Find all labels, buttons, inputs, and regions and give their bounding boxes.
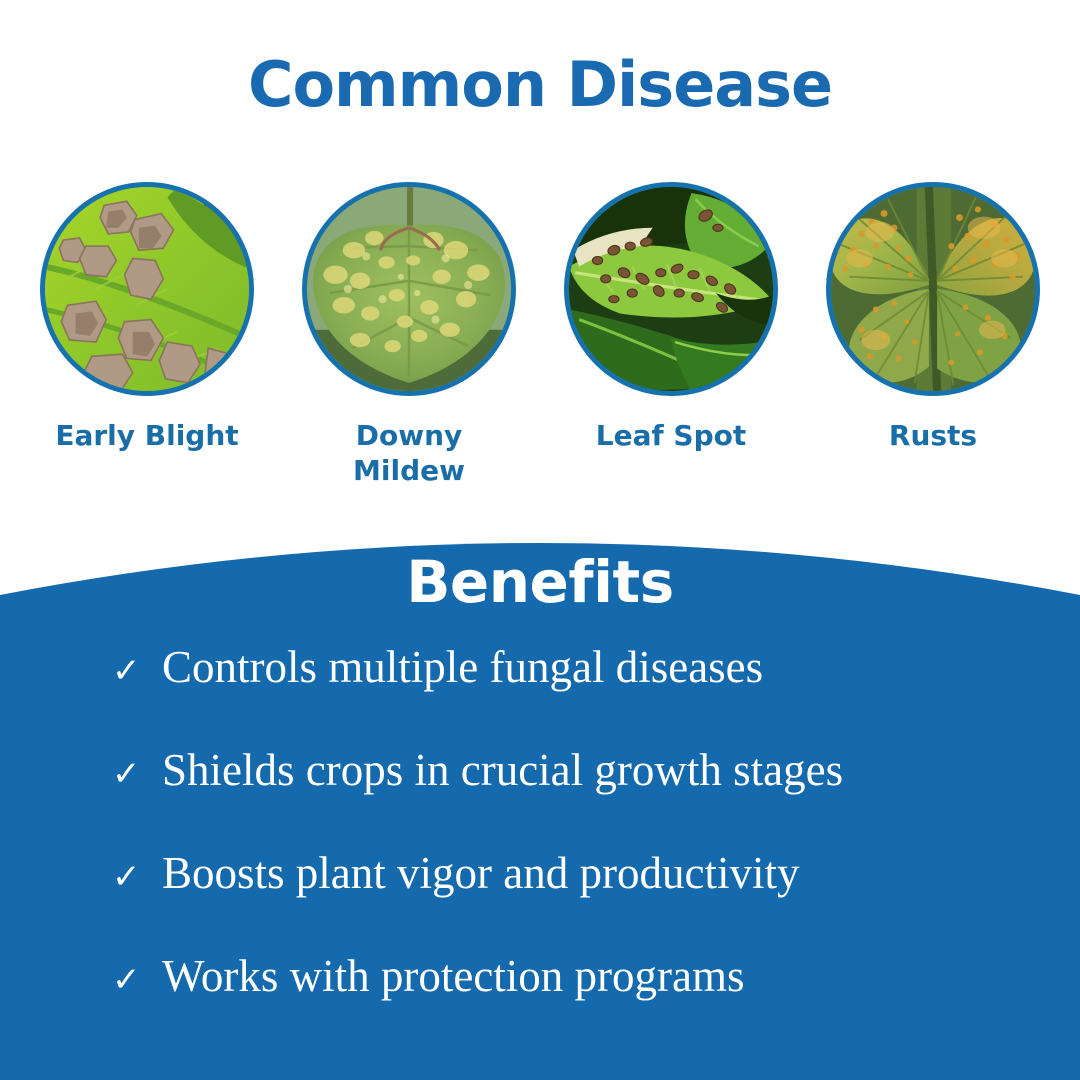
disease-card-downy-mildew[interactable]: Downy Mildew [278,182,540,488]
disease-card-early-blight[interactable]: Early Blight [16,182,278,453]
disease-label-downy-mildew: Downy Mildew [353,418,465,488]
benefit-item: ✓ Boosts plant vigor and productivity [112,851,1012,954]
disease-label-early-blight: Early Blight [55,418,238,453]
disease-gallery: Early Blight [0,182,1080,488]
leaf-rust-photo [826,182,1040,396]
check-icon: ✓ [112,757,162,791]
leaf-downy-mildew-photo [302,182,516,396]
page-title: Common Disease [0,54,1080,116]
benefits-title: Benefits [0,553,1080,611]
benefits-list: ✓ Controls multiple fungal diseases ✓ Sh… [112,645,1012,1057]
benefit-text: Controls multiple fungal diseases [162,645,763,690]
leaf-spot-photo [564,182,778,396]
benefit-item: ✓ Shields crops in crucial growth stages [112,748,1012,851]
check-icon: ✓ [112,860,162,894]
leaf-early-blight-photo [40,182,254,396]
check-icon: ✓ [112,963,162,997]
benefit-item: ✓ Controls multiple fungal diseases [112,645,1012,748]
benefits-panel: Benefits ✓ Controls multiple fungal dise… [0,505,1080,1080]
benefit-text: Boosts plant vigor and productivity [162,851,799,896]
disease-label-leaf-spot: Leaf Spot [596,418,747,453]
disease-card-rusts[interactable]: Rusts [802,182,1064,453]
disease-benefits-infographic: Common Disease [0,0,1080,1080]
benefit-text: Works with protection programs [162,954,745,999]
check-icon: ✓ [112,654,162,688]
disease-label-rusts: Rusts [889,418,977,453]
benefit-text: Shields crops in crucial growth stages [162,748,843,793]
disease-card-leaf-spot[interactable]: Leaf Spot [540,182,802,453]
benefit-item: ✓ Works with protection programs [112,954,1012,1057]
